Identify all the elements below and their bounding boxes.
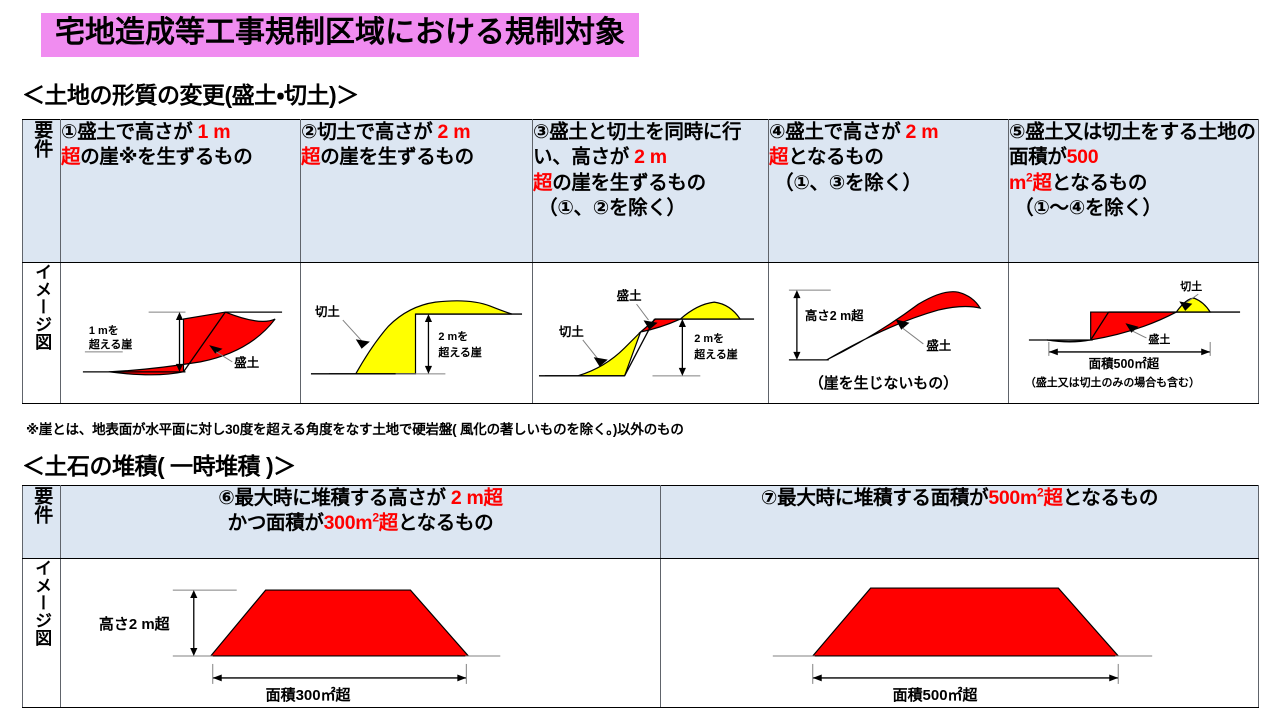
diagram-item1: 1 mを 超える崖 盛土 bbox=[61, 263, 300, 403]
table-row-requirements: 要件 ①盛土で高さが 1 m超の崖※を生ずるもの ②切土で高さが 2 m超の崖を… bbox=[23, 120, 1259, 263]
diagram-item4-fill-label: 盛土 bbox=[926, 338, 951, 353]
diagram-item4-dim-label: 高さ2 m超 bbox=[805, 308, 864, 323]
diagram-item5: 切土 盛土 面積500㎡超 （盛土又は切土のみの場合も含む） bbox=[1009, 263, 1258, 403]
diagram-item2-fill-label: 切土 bbox=[315, 304, 340, 319]
table-row-requirements: 要件 ⑥最大時に堆積する高さが 2 m超かつ面積が300m2超となるもの ⑦最大… bbox=[23, 486, 1259, 559]
diagram-item7-width-label: 面積500㎡超 bbox=[893, 686, 979, 704]
requirement-text-item7: ⑦最大時に堆積する面積が500m2超となるもの bbox=[761, 487, 1158, 509]
requirement-cell-item3: ③盛土と切土を同時に行い、高さが 2 m超の崖を生ずるもの （①、②を除く） bbox=[533, 120, 769, 263]
row-header-image: イメージ図 bbox=[23, 263, 61, 404]
section-heading-land-form-change: ＜土地の形質の変更(盛土・切土)＞ bbox=[22, 76, 359, 110]
regulation-table-soil-stockpile: 要件 ⑥最大時に堆積する高さが 2 m超かつ面積が300m2超となるもの ⑦最大… bbox=[22, 485, 1259, 708]
diagram-item3-dim-label-line2: 超える崖 bbox=[693, 347, 737, 361]
requirement-cell-item2: ②切土で高さが 2 m超の崖を生ずるもの bbox=[301, 120, 533, 263]
diagram-item2: 2 mを 超える崖 切土 bbox=[301, 263, 532, 403]
diagram-item6-height-label: 高さ2 m超 bbox=[99, 615, 171, 633]
diagram-item5-fill-label-red: 盛土 bbox=[1148, 332, 1170, 346]
requirement-text-item2: ②切土で高さが 2 m超の崖を生ずるもの bbox=[301, 121, 474, 168]
diagram-item1-dim-label-line2: 超える崖 bbox=[88, 337, 132, 351]
figure-cell-item5: 切土 盛土 面積500㎡超 （盛土又は切土のみの場合も含む） bbox=[1009, 263, 1259, 404]
diagram-item3-fill-label-red: 盛土 bbox=[617, 288, 642, 303]
row-header-image-label: イメージ図 bbox=[33, 263, 50, 351]
diagram-item3-fill-label-yellow: 切土 bbox=[559, 324, 584, 339]
row-header-requirements: 要件 bbox=[23, 120, 61, 263]
figure-cell-item3: 2 mを 超える崖 盛土 切土 bbox=[533, 263, 769, 404]
figure-cell-item6: 高さ2 m超 面積300㎡超 bbox=[61, 559, 661, 708]
row-header-image: イメージ図 bbox=[23, 559, 61, 708]
row-header-requirements-label: 要件 bbox=[32, 120, 51, 158]
row-header-image-label: イメージ図 bbox=[33, 559, 50, 647]
requirement-cell-item7: ⑦最大時に堆積する面積が500m2超となるもの bbox=[661, 486, 1259, 559]
diagram-item2-dim-label-line1: 2 mを bbox=[438, 330, 468, 343]
figure-cell-item7: 面積500㎡超 bbox=[661, 559, 1259, 708]
page-title-banner: 宅地造成等工事規制区域における規制対象 bbox=[41, 13, 639, 57]
diagram-item7: 面積500㎡超 bbox=[661, 559, 1258, 707]
requirement-text-item4: ④盛土で高さが 2 m超となるもの （①、③を除く） bbox=[769, 121, 938, 194]
section-heading-soil-stockpile: ＜土石の堆積( 一時堆積 )＞ bbox=[22, 447, 296, 481]
diagram-item3: 2 mを 超える崖 盛土 切土 bbox=[533, 263, 768, 403]
requirement-cell-item1: ①盛土で高さが 1 m超の崖※を生ずるもの bbox=[61, 120, 301, 263]
footnote-cliff-definition: ※崖とは、地表面が水平面に対し30度を超える角度をなす土地で硬岩盤( 風化の著し… bbox=[26, 418, 684, 438]
page-title: 宅地造成等工事規制区域における規制対象 bbox=[55, 16, 625, 51]
figure-cell-item2: 2 mを 超える崖 切土 bbox=[301, 263, 533, 404]
requirement-text-item5: ⑤盛土又は切土をする土地の面積が500m2超となるもの （①〜④を除く） bbox=[1009, 121, 1256, 219]
requirement-cell-item4: ④盛土で高さが 2 m超となるもの （①、③を除く） bbox=[769, 120, 1009, 263]
requirement-cell-item5: ⑤盛土又は切土をする土地の面積が500m2超となるもの （①〜④を除く） bbox=[1009, 120, 1259, 263]
regulation-table-land-form: 要件 ①盛土で高さが 1 m超の崖※を生ずるもの ②切土で高さが 2 m超の崖を… bbox=[22, 119, 1259, 404]
requirement-text-item1: ①盛土で高さが 1 m超の崖※を生ずるもの bbox=[61, 121, 252, 168]
diagram-item6: 高さ2 m超 面積300㎡超 bbox=[61, 559, 660, 707]
figure-cell-item1: 1 mを 超える崖 盛土 bbox=[61, 263, 301, 404]
requirement-cell-item6: ⑥最大時に堆積する高さが 2 m超かつ面積が300m2超となるもの bbox=[61, 486, 661, 559]
row-header-requirements-label: 要件 bbox=[32, 486, 51, 524]
requirement-text-item6: ⑥最大時に堆積する高さが 2 m超かつ面積が300m2超となるもの bbox=[218, 487, 502, 534]
diagram-item1-dim-label-line1: 1 mを bbox=[89, 324, 119, 337]
diagram-item3-dim-label-line1: 2 mを bbox=[694, 332, 724, 345]
row-header-requirements: 要件 bbox=[23, 486, 61, 559]
diagram-item1-fill-label: 盛土 bbox=[234, 355, 259, 370]
table-row-images: イメージ図 1 mを 超える崖 盛土 bbox=[23, 263, 1259, 404]
diagram-item5-fill-label-yellow: 切土 bbox=[1180, 279, 1202, 293]
diagram-item2-dim-label-line2: 超える崖 bbox=[437, 345, 481, 359]
table-row-images: イメージ図 高さ2 m超 面積30 bbox=[23, 559, 1259, 708]
figure-cell-item4: 高さ2 m超 盛土 （崖を生じないもの） bbox=[769, 263, 1009, 404]
requirement-text-item3: ③盛土と切土を同時に行い、高さが 2 m超の崖を生ずるもの （①、②を除く） bbox=[533, 121, 741, 219]
slide-page: 宅地造成等工事規制区域における規制対象 ＜土地の形質の変更(盛土・切土)＞ 要件… bbox=[0, 0, 1280, 720]
diagram-item5-dim-label: 面積500㎡超 bbox=[1089, 356, 1160, 371]
diagram-item4-caption: （崖を生じないもの） bbox=[809, 374, 958, 392]
diagram-item5-caption: （盛土又は切土のみの場合も含む） bbox=[1025, 375, 1200, 389]
diagram-item4: 高さ2 m超 盛土 （崖を生じないもの） bbox=[769, 263, 1008, 403]
diagram-item6-width-label: 面積300㎡超 bbox=[266, 686, 352, 704]
